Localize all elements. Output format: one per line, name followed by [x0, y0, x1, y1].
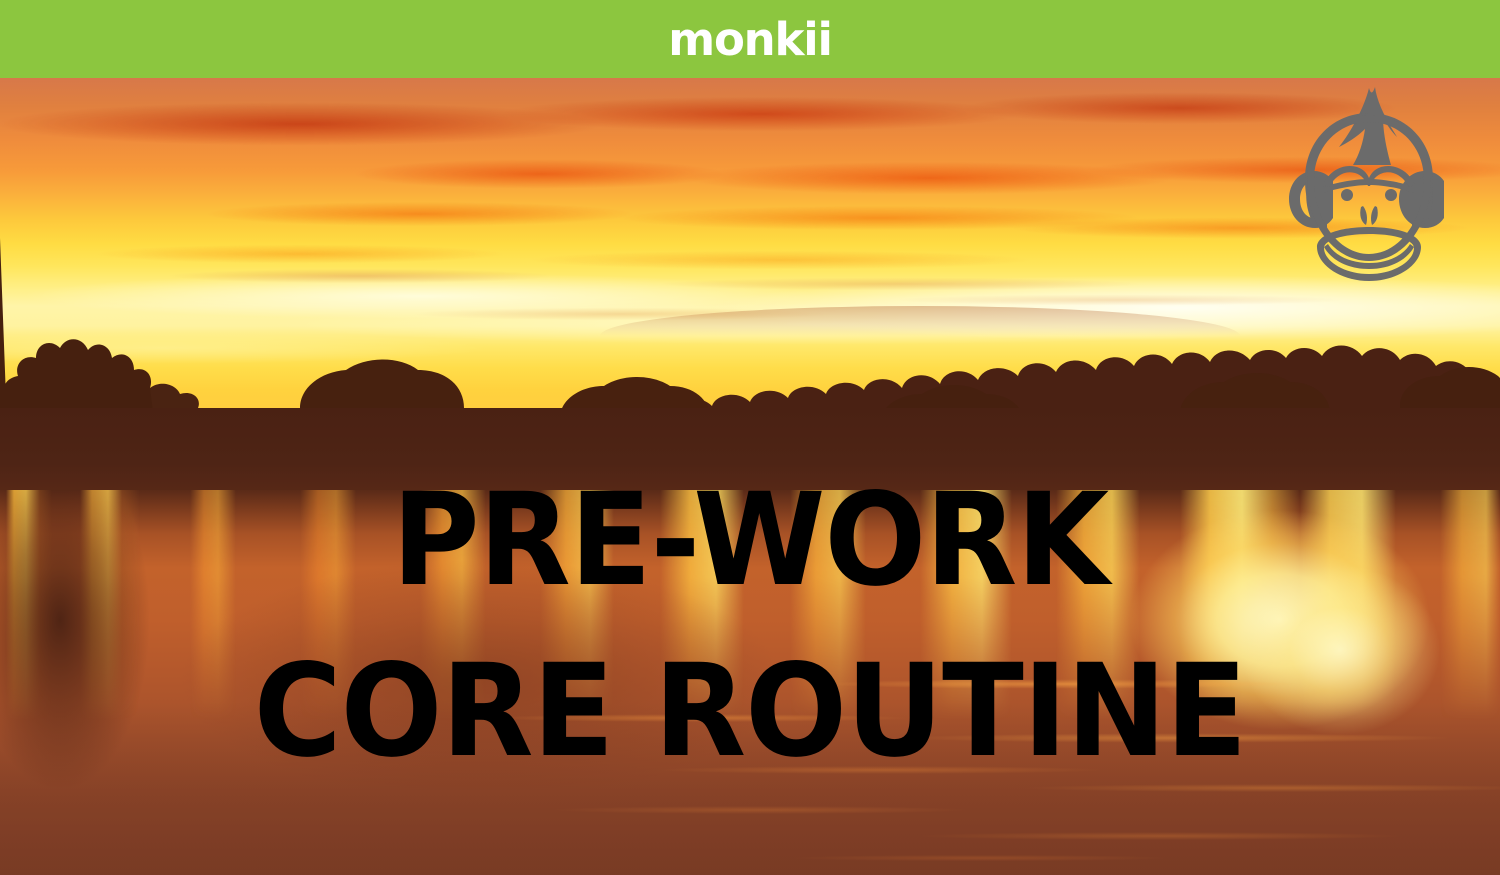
monkii-promo-banner: monkii — [0, 0, 1500, 875]
page-title: PRE-WORK CORE ROUTINE — [0, 478, 1500, 775]
brand-header-bar: monkii — [0, 0, 1500, 78]
title-line-1: PRE-WORK — [0, 478, 1500, 605]
gorilla-face-icon[interactable] — [1287, 85, 1452, 285]
title-line-2: CORE ROUTINE — [0, 649, 1500, 776]
monkii-wordmark[interactable]: monkii — [668, 17, 831, 62]
